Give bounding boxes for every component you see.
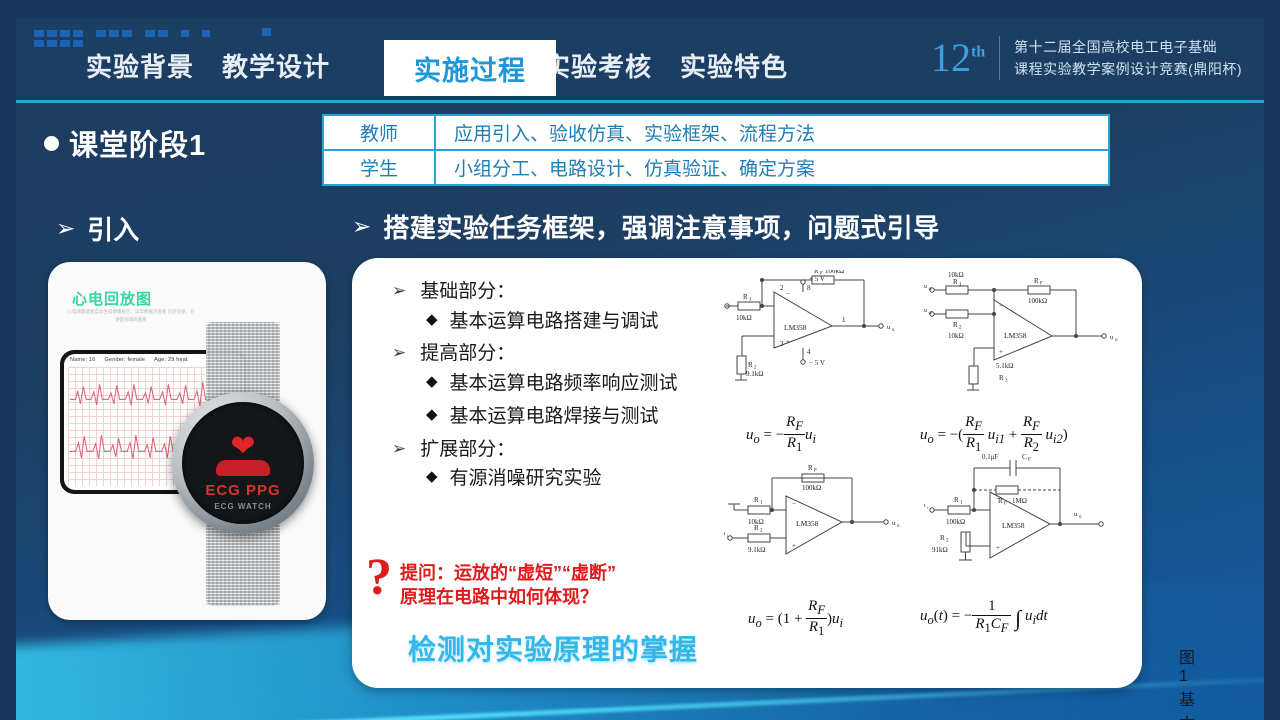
svg-text:1MΩ: 1MΩ: [1012, 497, 1027, 505]
svg-text:u: u: [924, 284, 927, 290]
svg-text:5.1kΩ: 5.1kΩ: [996, 362, 1013, 370]
task-list: ➢ 基础部分： ◆ 基本运算电路搭建与调试 ➢ 提高部分： ◆ 基本运算电路频率…: [392, 280, 722, 500]
svg-text:−: −: [786, 290, 790, 298]
brand-divider: [999, 36, 1000, 80]
frame-right: [1264, 0, 1280, 720]
list-item: ➢ 基础部分：: [392, 280, 722, 304]
svg-text:3: 3: [780, 340, 784, 348]
list-item: ◆ 有源消噪研究实验: [426, 467, 722, 492]
svg-text:3: 3: [1005, 379, 1008, 384]
circuit-non-inverting-amplifier: RF 100kΩ R1 10kΩ R2 9.1kΩ −+ LM358 ui uo: [724, 462, 934, 582]
svg-text:−: −: [999, 302, 1003, 310]
ecg-watch-photo: 心电回放图 心电测量结果自动生成健康报告，异常数据可查看 历史记录，方便医师调阅…: [48, 262, 326, 620]
svg-text:u: u: [724, 531, 725, 537]
diamond-bullet-icon: ◆: [426, 372, 438, 392]
circuit-figure-group: RF100kΩ R1 10kΩ R2 9.1kΩ 23 −+ LM358 84 …: [724, 266, 1134, 654]
photo-title: 心电回放图: [72, 288, 152, 309]
arrow-bullet-icon: ➢: [56, 217, 75, 240]
task-heading: 扩展部分：: [420, 438, 515, 462]
svg-text:R: R: [953, 278, 958, 286]
svg-text:F: F: [1040, 282, 1043, 287]
svg-text:R: R: [808, 464, 813, 472]
heart-icon: ❤: [230, 432, 255, 462]
svg-text:+: +: [786, 338, 790, 346]
list-item: ➢ 提高部分：: [392, 342, 722, 366]
role-table: 教师 应用引入、验收仿真、实验框架、流程方法 学生 小组分工、电路设计、仿真验证…: [322, 114, 1110, 186]
nav-item-1[interactable]: 教学设计: [208, 44, 344, 90]
svg-text:100kΩ: 100kΩ: [1028, 297, 1047, 305]
edition-number: 12th: [931, 38, 985, 78]
svg-text:R: R: [940, 534, 945, 542]
svg-text:F: F: [814, 469, 817, 474]
svg-text:1: 1: [842, 316, 846, 324]
watch-sub-label: ECG WATCH: [182, 502, 304, 511]
phone-gender: Gender: female: [104, 357, 145, 363]
nav-item-4[interactable]: 实验特色: [666, 44, 802, 90]
circuit-summing-amplifier: 10kΩ R1 R2 10kΩ RF 100kΩ R3 5.1kΩ −+ LM3…: [924, 270, 1134, 400]
edition-ordinal: th: [971, 44, 985, 61]
svg-text:u: u: [924, 308, 927, 314]
photo-subtitle: 心电测量结果自动生成健康报告，异常数据可查看 历史记录，方便医师调阅查看: [66, 308, 196, 323]
role-cell: 教师: [324, 116, 436, 149]
circuit-inverting-amplifier: RF100kΩ R1 10kΩ R2 9.1kΩ 23 −+ LM358 84 …: [724, 270, 934, 400]
task-item: 基本运算电路焊接与测试: [450, 405, 659, 430]
task-heading: 提高部分：: [420, 342, 515, 366]
svg-text:LM358: LM358: [796, 519, 819, 528]
svg-text:2: 2: [780, 284, 784, 292]
task-item: 有源消噪研究实验: [450, 467, 602, 492]
svg-text:1: 1: [760, 501, 763, 506]
subhead-right-label: 搭建实验任务框架，强调注意事项，问题式引导: [383, 208, 940, 245]
phone-name: Name: 16: [70, 357, 95, 363]
svg-text:C: C: [1022, 454, 1027, 461]
arrow-bullet-icon: ➢: [392, 342, 406, 363]
svg-text:2: 2: [946, 539, 949, 544]
diamond-bullet-icon: ◆: [426, 467, 438, 487]
svg-text:u: u: [1110, 334, 1114, 341]
formula-summing: uo = −( RF R1 ui1 + RF R2 ui2): [920, 414, 1068, 455]
formula-non-inverting: uo = (1 + RF R1)ui: [748, 598, 843, 639]
arrow-bullet-icon: ➢: [392, 438, 406, 459]
stage-title: 课堂阶段1: [44, 122, 206, 164]
svg-text:LM358: LM358: [784, 323, 807, 332]
circuit-integrator: 0.1μF CF RF 1MΩ R1 100kΩ R2 91kΩ −+ LM35…: [924, 454, 1139, 579]
nav-item-active[interactable]: 实施过程: [384, 40, 556, 96]
hand-icon: [216, 460, 270, 476]
svg-text:R: R: [999, 374, 1004, 382]
svg-text:F: F: [1028, 458, 1031, 463]
svg-text:1: 1: [959, 283, 962, 288]
smartwatch-mockup: ❤ ECG PPG ECG WATCH: [144, 322, 326, 606]
stage-title-label: 课堂阶段1: [69, 122, 206, 164]
subhead-left-label: 引入: [87, 210, 139, 247]
svg-text:LM358: LM358: [1004, 331, 1027, 340]
svg-text:100kΩ: 100kΩ: [802, 484, 821, 492]
svg-text:LM358: LM358: [1002, 521, 1025, 530]
question-line-2: 原理在电路中如何体现？: [400, 587, 598, 607]
formula-integrator: uo(t) = − 1 R1CF ∫ uidt: [920, 598, 1048, 636]
svg-text:100kΩ: 100kΩ: [825, 270, 844, 275]
svg-text:4: 4: [807, 348, 811, 356]
svg-text:R: R: [754, 524, 759, 532]
arrow-bullet-icon: ➢: [352, 215, 371, 238]
svg-text:100kΩ: 100kΩ: [946, 518, 965, 526]
diamond-bullet-icon: ◆: [426, 405, 438, 425]
svg-text:R: R: [754, 496, 759, 504]
watch-screen: ❤ ECG PPG ECG WATCH: [182, 402, 304, 524]
brand-line-2: 课程实验教学案例设计竞赛(鼎阳杯): [1014, 60, 1242, 78]
formula-inverting: uo = − RF R1ui: [746, 414, 816, 455]
list-item: ◆ 基本运算电路焊接与测试: [426, 405, 722, 430]
svg-text:10kΩ: 10kΩ: [948, 332, 964, 340]
svg-text:o: o: [892, 328, 895, 333]
svg-text:o: o: [1079, 515, 1082, 520]
svg-text:−: −: [792, 500, 796, 508]
svg-text:10kΩ: 10kΩ: [736, 314, 752, 322]
svg-text:R: R: [748, 361, 753, 369]
svg-text:+: +: [996, 544, 1000, 552]
svg-text:R: R: [743, 293, 748, 301]
arrow-bullet-icon: ➢: [392, 280, 406, 301]
svg-text:u: u: [924, 503, 925, 509]
list-item: ◆ 基本运算电路频率响应测试: [426, 372, 722, 397]
highlight-text: 检测对实验原理的掌握: [408, 628, 698, 668]
svg-text:0.1μF: 0.1μF: [982, 454, 999, 461]
figure-caption: 图1 基本运算电路: [1179, 644, 1195, 720]
subhead-right: ➢ 搭建实验任务框架，强调注意事项，问题式引导: [352, 208, 940, 245]
task-item: 基本运算电路频率响应测试: [450, 372, 678, 397]
frame-left: [0, 0, 16, 720]
table-row: 学生 小组分工、电路设计、仿真验证、确定方案: [324, 149, 1108, 184]
header-bar: 实验背景 教学设计 实验考核 实验特色 实施过程 12th 第十二届全国高校电工…: [16, 18, 1264, 100]
list-item: ◆ 基本运算电路搭建与调试: [426, 310, 722, 335]
question-text: 提问：运放的“虚短”“虚断” 原理在电路中如何体现？: [400, 555, 616, 610]
svg-text:u: u: [887, 324, 891, 331]
subhead-left: ➢ 引入: [56, 210, 139, 247]
header-underline: [16, 100, 1264, 103]
svg-text:u: u: [892, 520, 896, 527]
slide-root: 实验背景 教学设计 实验考核 实验特色 实施过程 12th 第十二届全国高校电工…: [0, 0, 1280, 720]
svg-text:R: R: [954, 496, 959, 504]
svg-text:9.1kΩ: 9.1kΩ: [748, 546, 765, 554]
role-content-cell: 小组分工、电路设计、仿真验证、确定方案: [436, 151, 1108, 184]
svg-text:o: o: [1115, 338, 1118, 343]
competition-brand: 12th 第十二届全国高校电工电子基础 课程实验教学案例设计竞赛(鼎阳杯): [931, 36, 1242, 80]
question-line-1: 提问：运放的“虚短”“虚断”: [400, 563, 616, 583]
svg-text:− 5 V: − 5 V: [809, 359, 825, 367]
diamond-bullet-icon: ◆: [426, 310, 438, 330]
svg-text:−: −: [996, 495, 1000, 503]
task-item: 基本运算电路搭建与调试: [450, 310, 659, 335]
svg-text:2: 2: [959, 326, 962, 331]
svg-text:o: o: [897, 524, 900, 529]
dot-bullet-icon: [44, 136, 59, 151]
svg-text:8: 8: [807, 284, 811, 292]
svg-text:u: u: [1074, 511, 1078, 518]
svg-text:i: i: [927, 505, 929, 510]
watch-brand-label: ECG PPG: [182, 482, 304, 499]
brand-title: 第十二届全国高校电工电子基础 课程实验教学案例设计竞赛(鼎阳杯): [1014, 38, 1242, 77]
svg-text:+ 5 V: + 5 V: [809, 275, 825, 283]
content-panel: ➢ 基础部分： ◆ 基本运算电路搭建与调试 ➢ 提高部分： ◆ 基本运算电路频率…: [352, 258, 1142, 688]
table-row: 教师 应用引入、验收仿真、实验框架、流程方法: [324, 116, 1108, 149]
svg-text:+: +: [792, 542, 796, 550]
frame-top: [0, 0, 1280, 18]
svg-text:9.1kΩ: 9.1kΩ: [746, 370, 763, 378]
role-content-cell: 应用引入、验收仿真、实验框架、流程方法: [436, 116, 1108, 149]
svg-text:F: F: [1004, 502, 1007, 507]
task-heading: 基础部分：: [420, 280, 515, 304]
svg-text:i1: i1: [929, 286, 933, 291]
svg-text:R: R: [1034, 277, 1039, 285]
question-mark-icon: ?: [366, 555, 392, 602]
watch-case: ❤ ECG PPG ECG WATCH: [172, 392, 314, 534]
svg-text:91kΩ: 91kΩ: [932, 546, 948, 554]
role-cell: 学生: [324, 151, 436, 184]
svg-text:i2: i2: [929, 310, 933, 315]
svg-text:1: 1: [960, 501, 963, 506]
question-callout: ? 提问：运放的“虚短”“虚断” 原理在电路中如何体现？: [366, 555, 716, 610]
svg-text:2: 2: [760, 529, 763, 534]
svg-text:+: +: [999, 348, 1003, 356]
nav-item-active-label: 实施过程: [414, 49, 526, 88]
brand-line-1: 第十二届全国高校电工电子基础: [1014, 38, 1242, 56]
svg-text:R: R: [953, 321, 958, 329]
nav-item-0[interactable]: 实验背景: [72, 44, 208, 90]
list-item: ➢ 扩展部分：: [392, 438, 722, 462]
